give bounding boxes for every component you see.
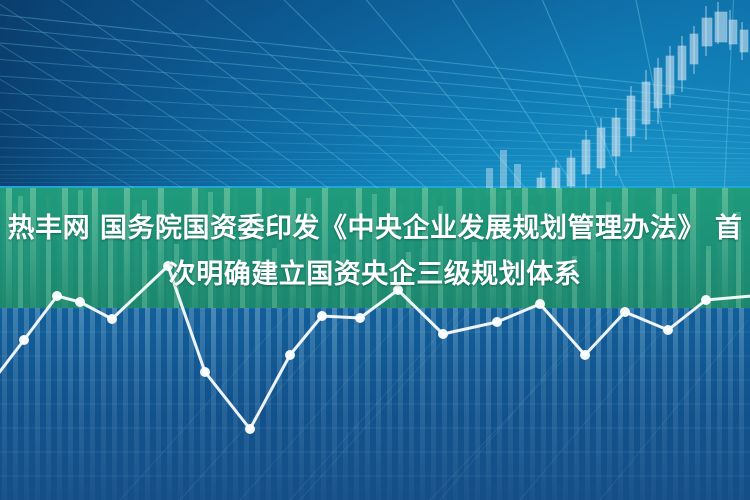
banner-image: 热丰网 国务院国资委印发《中央企业发展规划管理办法》 首 次明确建立国资央企三级…	[0, 0, 750, 500]
trend-marker	[492, 317, 502, 327]
trend-marker	[107, 314, 117, 324]
trend-line-icon	[0, 261, 750, 434]
trend-marker	[163, 261, 173, 271]
trend-marker	[317, 311, 327, 321]
trend-marker	[438, 329, 448, 339]
trend-marker	[75, 297, 85, 307]
trend-marker	[701, 295, 711, 305]
trend-polyline	[0, 266, 750, 429]
trend-marker	[663, 325, 673, 335]
trend-markers	[19, 261, 711, 434]
trend-marker	[52, 291, 62, 301]
trend-marker	[355, 313, 365, 323]
trend-marker	[285, 350, 295, 360]
trend-marker	[620, 307, 630, 317]
trend-marker	[393, 285, 403, 295]
trend-marker	[200, 367, 210, 377]
trend-marker	[580, 350, 590, 360]
trend-marker	[19, 335, 29, 345]
trend-marker	[245, 424, 255, 434]
trend-line-layer	[0, 0, 750, 500]
trend-marker	[535, 299, 545, 309]
